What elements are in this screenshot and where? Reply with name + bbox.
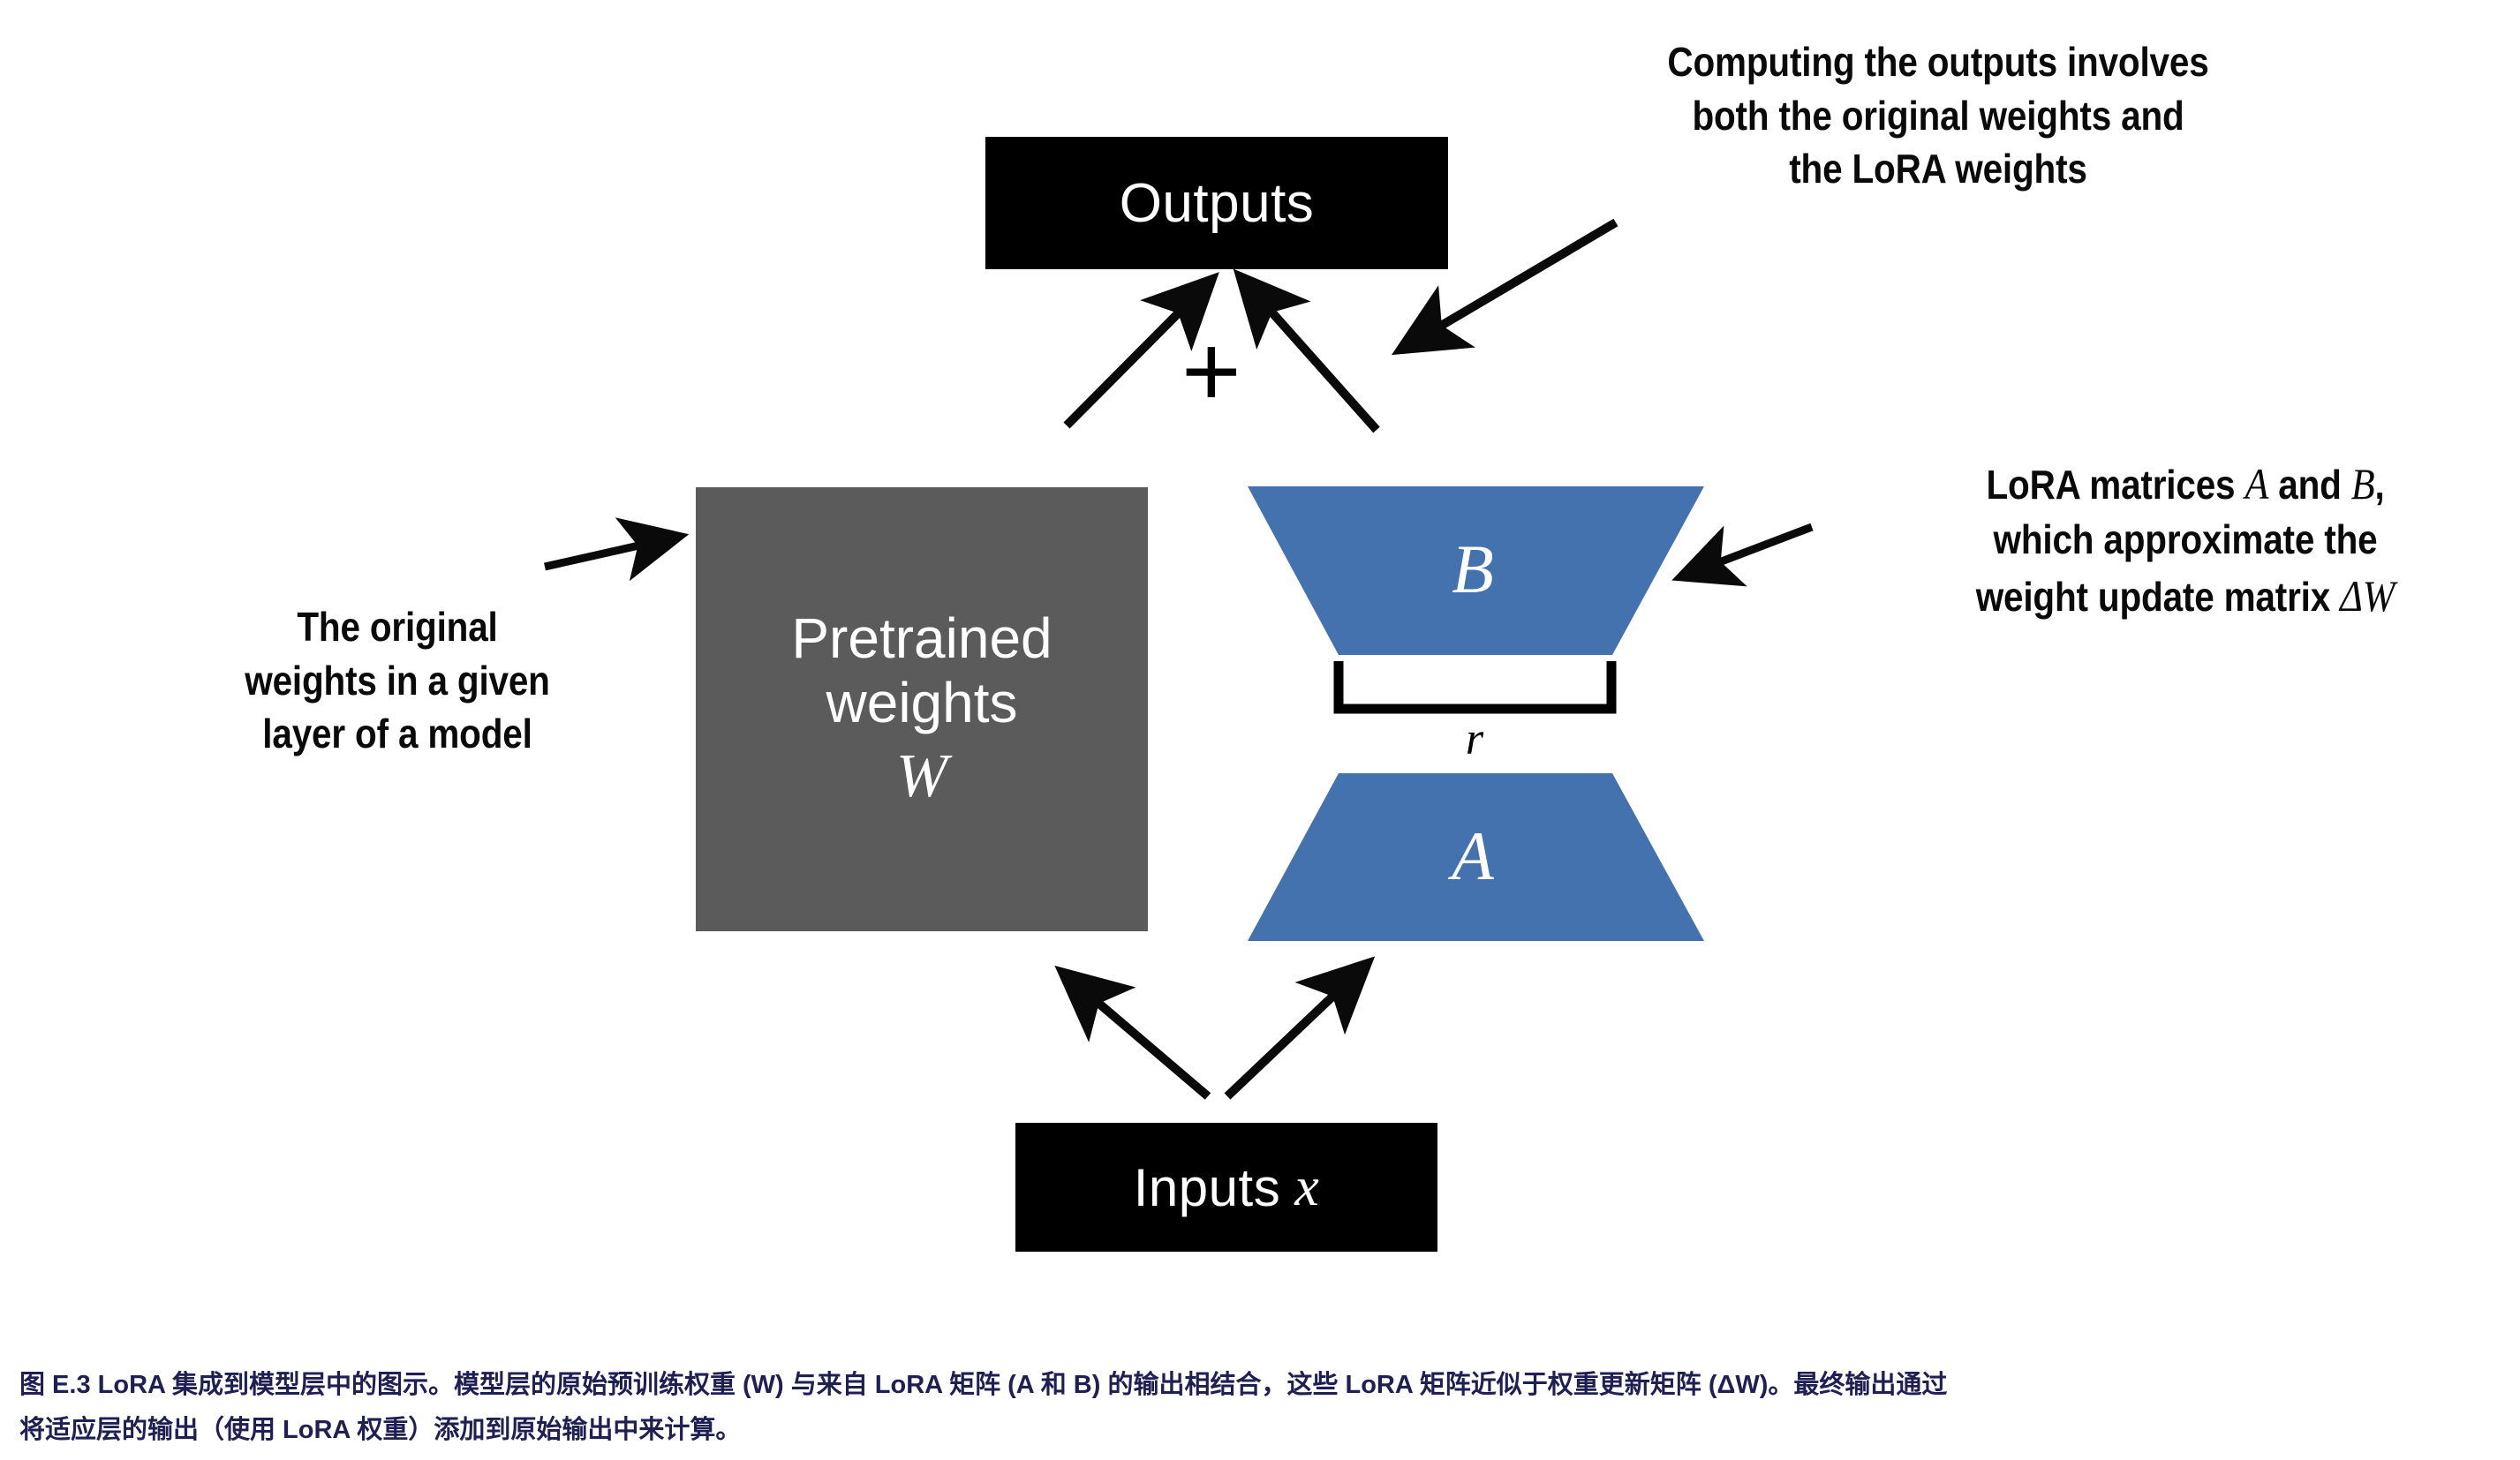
pretrained-weights-node: Pretrained weights W [696, 487, 1148, 931]
annotation-left-line-2: weights in a given [156, 654, 638, 708]
annotation-top-right: Computing the outputs involves both the … [1538, 35, 2338, 196]
annotation-top-right-line-3: the LoRA weights [1538, 142, 2338, 196]
plus-sign: + [1181, 320, 1241, 422]
lora-b-label: B [1384, 530, 1561, 609]
inputs-variable: x [1294, 1156, 1319, 1219]
pretrained-variable: W [896, 741, 947, 813]
delta-w-symbol: ΔW [2340, 571, 2395, 621]
annotation-right-line-2: which approximate the [1878, 513, 2492, 567]
figure-caption: 图 E.3 LoRA 集成到模型层中的图示。模型层的原始预训练权重 (W) 与来… [19, 1363, 2501, 1453]
inputs-node: Inputs x [1015, 1123, 1437, 1252]
matrix-a-symbol: A [2245, 459, 2268, 508]
caption-line-1: 图 E.3 LoRA 集成到模型层中的图示。模型层的原始预训练权重 (W) 与来… [19, 1363, 2501, 1408]
annotation-right: LoRA matrices A and B, which approximate… [1878, 455, 2492, 625]
pretrained-line2: weights [826, 671, 1018, 736]
annotation-right-line-1: LoRA matrices A and B, [1878, 455, 2492, 513]
annotation-left: The original weights in a given layer of… [156, 600, 638, 761]
annotation-right-line-3: weight update matrix ΔW [1878, 567, 2492, 625]
figure-canvas: Outputs + Pretrained weights W B A r Inp… [0, 0, 2520, 1460]
matrix-b-symbol: B [2351, 459, 2375, 508]
caption-line-2: 将适应层的输出（使用 LoRA 权重）添加到原始输出中来计算。 [19, 1408, 2501, 1453]
pretrained-line1: Pretrained [791, 606, 1052, 672]
annotation-top-right-line-1: Computing the outputs involves [1538, 35, 2338, 89]
rank-label: r [1430, 713, 1519, 765]
rank-bracket [1339, 661, 1611, 709]
annotation-left-line-3: layer of a model [156, 707, 638, 761]
inputs-label: Inputs [1134, 1157, 1280, 1218]
outputs-label: Outputs [1120, 172, 1315, 235]
annotation-left-line-1: The original [156, 600, 638, 654]
lora-a-label: A [1384, 817, 1561, 896]
annotation-top-right-line-2: both the original weights and [1538, 89, 2338, 143]
outputs-node: Outputs [985, 137, 1448, 269]
